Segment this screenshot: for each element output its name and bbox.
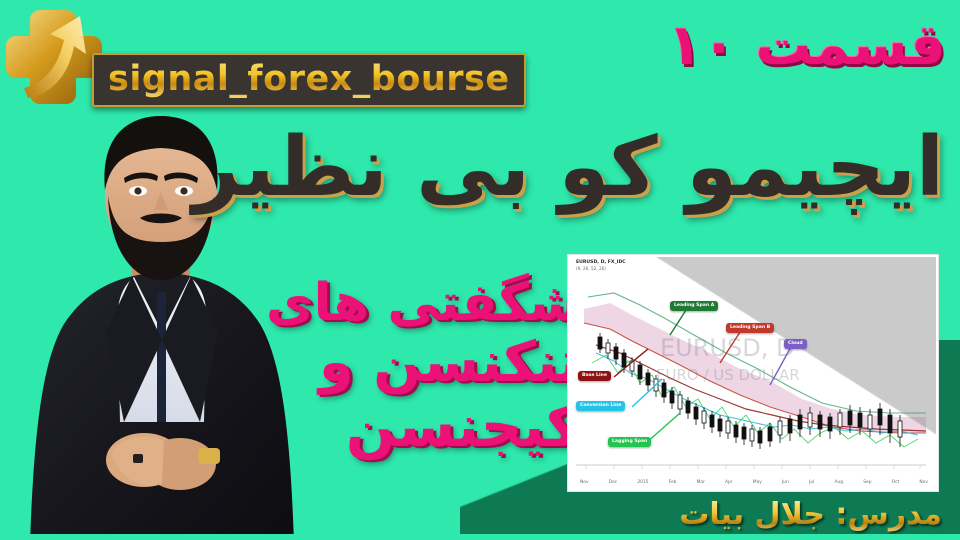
chart-plot xyxy=(570,257,932,485)
axis-tick: Mar xyxy=(697,480,705,486)
axis-tick: Jun xyxy=(782,480,789,486)
chart-x-axis-labels: Nov Dec 2015 Feb Mar Apr May Jun Jul Aug… xyxy=(570,480,936,486)
callout-cloud: Cloud xyxy=(784,339,807,349)
chart-params-label: (9, 26, 52, 26) xyxy=(576,266,626,272)
axis-tick: Nov xyxy=(919,480,928,486)
ichimoku-chart-panel: EURUSD, D EURO / US DOLLAR EURUSD, D, FX… xyxy=(568,255,938,491)
axis-tick: Feb xyxy=(669,480,677,486)
axis-tick: Apr xyxy=(725,480,733,486)
episode-number-label: قسمت ۱۰ xyxy=(668,14,946,78)
channel-name-plate: signal_forex_bourse xyxy=(92,53,526,107)
axis-tick: Aug xyxy=(834,480,843,486)
page-title: ایچیمو کو بی نظیر xyxy=(224,120,944,216)
bottom-band xyxy=(0,534,960,540)
chart-inner: EURUSD, D EURO / US DOLLAR EURUSD, D, FX… xyxy=(570,257,936,489)
subtitle-block: شگفتی های تنکنسن و کیجنسن xyxy=(266,272,580,460)
chart-header: EURUSD, D, FX_IDC (9, 26, 52, 26) xyxy=(576,260,626,272)
subtitle-line-2: تنکنسن و xyxy=(266,330,580,396)
callout-leading-span-a: Leading Span A xyxy=(670,301,718,311)
callout-leading-span-b: Leading Span B xyxy=(726,323,774,333)
axis-tick: Sep xyxy=(863,480,871,486)
callout-base-line: Base Line xyxy=(578,371,611,381)
subtitle-line-1: شگفتی های xyxy=(266,272,580,334)
callout-lagging-span: Lagging Span xyxy=(608,437,651,447)
channel-name-text: signal_forex_bourse xyxy=(108,59,510,99)
subtitle-line-3: کیجنسن xyxy=(266,392,580,460)
axis-tick: 2015 xyxy=(637,480,648,486)
axis-tick: Dec xyxy=(609,480,618,486)
instructor-credit: مدرس: جلال بیات xyxy=(679,496,942,534)
thumbnail-canvas: signal_forex_bourse قسمت ۱۰ ایچیمو کو بی… xyxy=(0,0,960,540)
axis-tick: Jul xyxy=(809,480,814,486)
axis-tick: May xyxy=(753,480,762,486)
callout-conversion-line: Conversion Line xyxy=(576,401,625,411)
axis-tick: Nov xyxy=(580,480,589,486)
axis-tick: Oct xyxy=(892,480,900,486)
